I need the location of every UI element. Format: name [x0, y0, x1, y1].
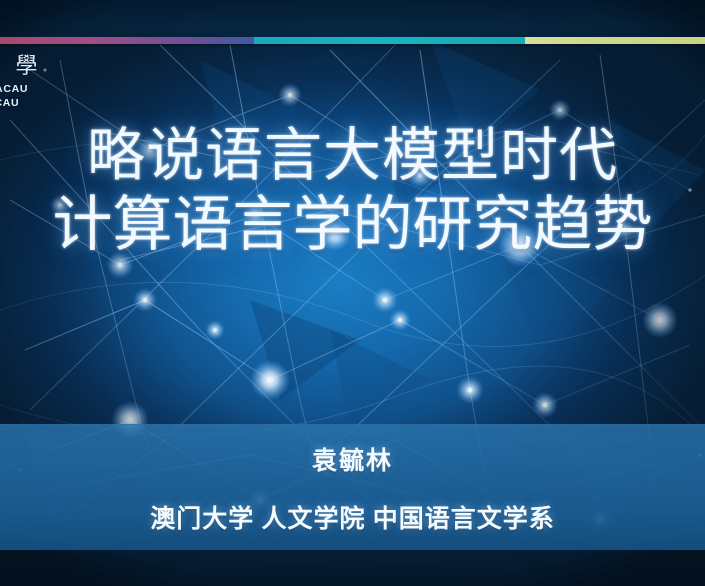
accent-bar [0, 37, 705, 44]
university-logo: 大 學 DE MACAU F MACAU [0, 55, 48, 108]
presenter-affiliation: 澳门大学 人文学院 中国语言文学系 [150, 499, 555, 535]
page-title: 略说语言大模型时代 计算语言学的研究趋势 [0, 122, 705, 260]
logo-chinese-name: 大 學 [0, 55, 48, 77]
logo-english-line-1: DE MACAU [0, 84, 48, 95]
presenter-name: 袁毓林 [312, 441, 393, 477]
title-line-1: 略说语言大模型时代 [0, 122, 705, 190]
logo-english-line-2: F MACAU [0, 98, 48, 109]
accent-bar-segment-yellow [525, 37, 705, 44]
accent-bar-segment-teal [254, 37, 525, 44]
presentation-title-slide: 大 學 DE MACAU F MACAU 略说语言大模型时代 计算语言学的研究趋… [0, 0, 705, 586]
accent-bar-segment-purple [0, 37, 254, 44]
accent-bar-shadow [0, 44, 705, 48]
title-line-2: 计算语言学的研究趋势 [0, 190, 705, 260]
presenter-band: 袁毓林 澳门大学 人文学院 中国语言文学系 [0, 424, 705, 550]
